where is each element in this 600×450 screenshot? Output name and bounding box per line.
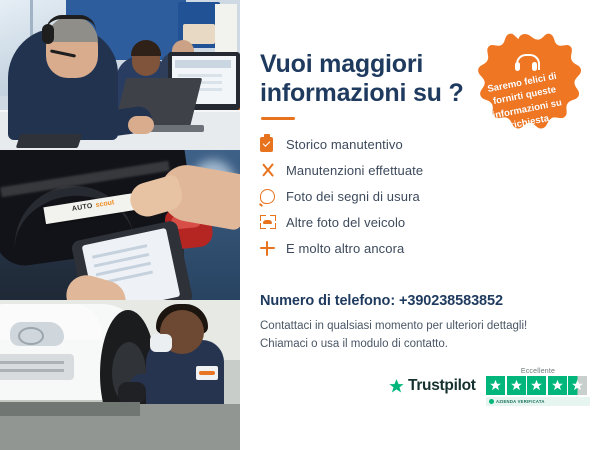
crossed-tools-icon xyxy=(260,162,286,178)
feature-item-altre-foto-veicolo: Altre foto del veicolo xyxy=(260,209,490,235)
vehicle-inspection-photo: AUTOscout xyxy=(0,150,240,300)
star-3 xyxy=(527,376,546,395)
feature-item-label: E molto altro ancora xyxy=(286,241,404,256)
feature-item-label: Storico manutentivo xyxy=(286,137,403,152)
verified-company-label: AZIENDA VERIFICATA xyxy=(496,399,545,404)
trustpilot-logo: Trustpilot xyxy=(388,377,476,395)
plus-icon xyxy=(260,241,286,256)
page-title-line-1: Vuoi maggiori xyxy=(260,50,423,78)
feature-item-storico-manutentivo: Storico manutentivo xyxy=(260,131,490,157)
call-center-agents-photo xyxy=(0,0,240,150)
verified-company-badge: AZIENDA VERIFICATA xyxy=(486,397,590,406)
phone-line: Numero di telefono: +390238583852 xyxy=(260,293,560,309)
contact-subtext: Contattaci in qualsiasi momento per ulte… xyxy=(260,318,570,354)
trustpilot-rating: Eccellente AZIENDA VERIFICATA xyxy=(486,368,590,406)
contact-subtext-line-2: Chiamaci o usa il modulo di contatto. xyxy=(260,338,448,350)
page-title: Vuoi maggiori informazioni su ? xyxy=(260,50,490,108)
feature-list: Storico manutentivo Manutenzioni effettu… xyxy=(260,131,490,261)
headset-icon xyxy=(516,54,536,71)
feature-item-label: Altre foto del veicolo xyxy=(286,215,405,230)
info-content-panel: Vuoi maggiori informazioni su ? Saremo f… xyxy=(240,0,600,450)
feature-item-foto-segni-usura: Foto dei segni di usura xyxy=(260,183,490,209)
trustpilot-brand-label: Trustpilot xyxy=(408,377,476,395)
title-underline-divider xyxy=(261,117,295,120)
phone-label: Numero di telefono: xyxy=(260,293,395,309)
contact-info-banner: AUTOscout Vuoi maggiori informazioni su … xyxy=(0,0,600,450)
star-1 xyxy=(486,376,505,395)
star-2 xyxy=(507,376,526,395)
feature-item-label: Foto dei segni di usura xyxy=(286,189,420,204)
car-scan-icon xyxy=(260,215,286,229)
phone-number[interactable]: +390238583852 xyxy=(399,293,503,309)
clipboard-check-icon xyxy=(260,137,286,152)
verified-check-icon xyxy=(489,399,494,404)
contact-subtext-line-1: Contattaci in qualsiasi momento per ulte… xyxy=(260,320,527,332)
photo-column: AUTOscout xyxy=(0,0,240,450)
page-title-line-2: informazioni su ? xyxy=(260,79,464,107)
feature-item-molto-altro: E molto altro ancora xyxy=(260,235,490,261)
trustpilot-star-row xyxy=(486,376,590,395)
workshop-wheel-photo xyxy=(0,300,240,450)
star-5-half xyxy=(568,376,587,395)
trustpilot-star-icon xyxy=(388,378,405,395)
magnifier-icon xyxy=(260,189,286,204)
star-4 xyxy=(548,376,567,395)
feature-item-label: Manutenzioni effettuate xyxy=(286,163,423,178)
trustpilot-widget[interactable]: Trustpilot Eccellente AZIENDA VERIFICATA xyxy=(388,368,590,414)
trustpilot-rating-caption: Eccellente xyxy=(486,368,590,375)
feature-item-manutenzioni-effettuate: Manutenzioni effettuate xyxy=(260,157,490,183)
